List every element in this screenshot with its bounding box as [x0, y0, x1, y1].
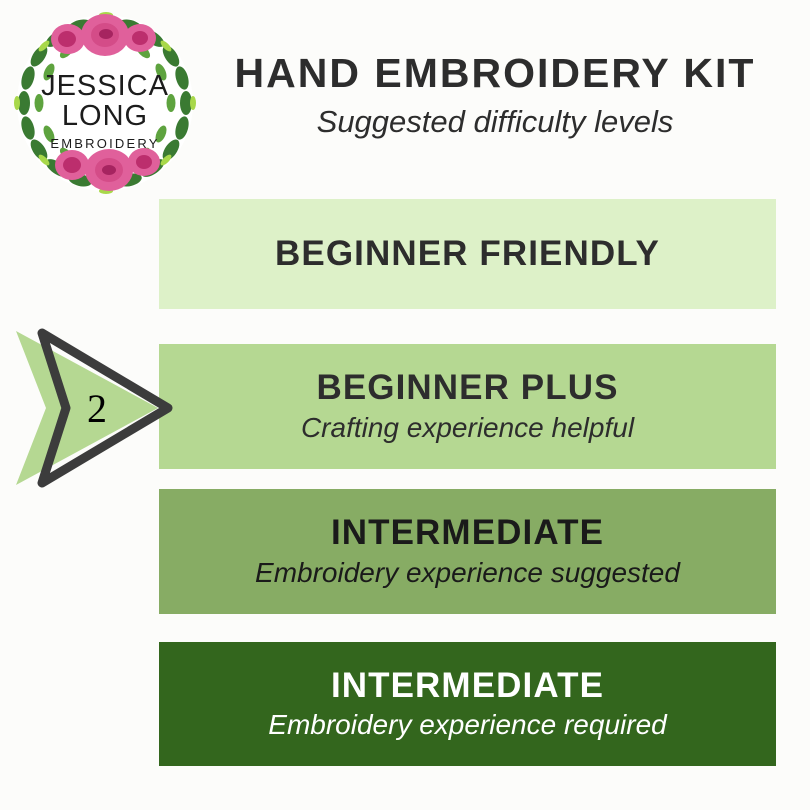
difficulty-level-bar[interactable]: INTERMEDIATE Embroidery experience requi…	[159, 642, 776, 766]
level-title: INTERMEDIATE	[331, 514, 604, 553]
level-subtitle: Crafting experience helpful	[301, 412, 634, 444]
brand-logo: JESSICA LONG EMBROIDERY	[10, 8, 200, 198]
logo-line-3: EMBROIDERY	[50, 136, 159, 151]
wreath-flowers-top	[51, 14, 156, 56]
selected-level-arrow-marker: 2	[8, 325, 176, 491]
level-title: BEGINNER FRIENDLY	[275, 235, 660, 274]
page-title: HAND EMBROIDERY KIT	[200, 52, 790, 95]
logo-line-2: LONG	[62, 100, 148, 132]
level-title: INTERMEDIATE	[331, 667, 604, 706]
difficulty-level-bar[interactable]: BEGINNER FRIENDLY	[159, 199, 776, 309]
header: HAND EMBROIDERY KIT Suggested difficulty…	[200, 52, 790, 140]
wreath-flowers-bottom	[55, 148, 160, 191]
level-subtitle: Embroidery experience required	[268, 709, 666, 741]
level-subtitle: Embroidery experience suggested	[255, 557, 680, 589]
logo-line-1: JESSICA	[41, 70, 169, 102]
page-subtitle: Suggested difficulty levels	[200, 104, 790, 140]
arrow-right-icon	[8, 325, 176, 491]
difficulty-level-bar[interactable]: INTERMEDIATE Embroidery experience sugge…	[159, 489, 776, 614]
logo-wreath-icon: JESSICA LONG EMBROIDERY	[10, 8, 200, 198]
difficulty-level-bar[interactable]: BEGINNER PLUS Crafting experience helpfu…	[159, 344, 776, 469]
level-title: BEGINNER PLUS	[316, 369, 618, 408]
arrow-fill-shape	[16, 331, 158, 485]
difficulty-level-infographic: JESSICA LONG EMBROIDERY HAND EMBROIDERY …	[0, 0, 810, 810]
